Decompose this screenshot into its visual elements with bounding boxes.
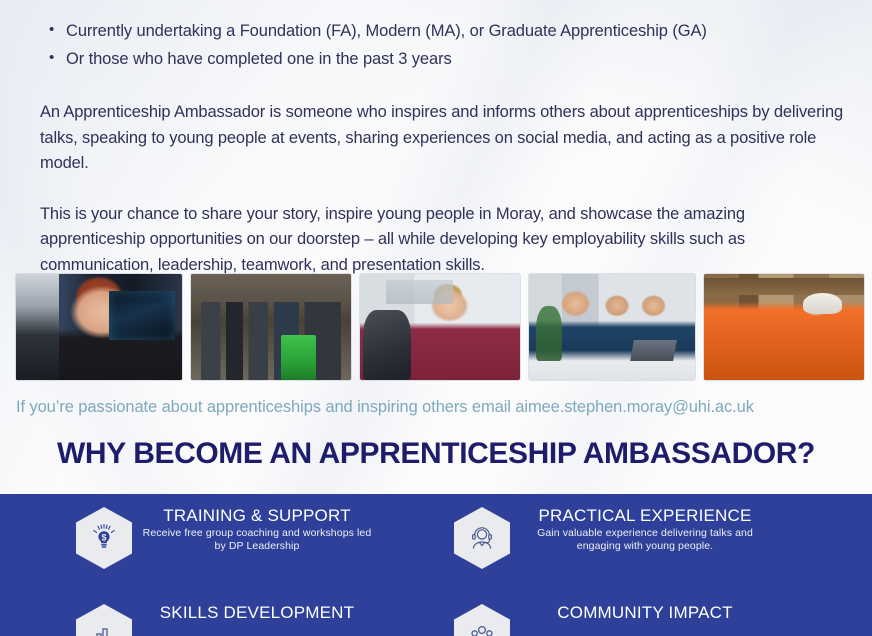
- photo-workshop-group: [191, 274, 351, 380]
- benefit-training-support: $ TRAINING & SUPPORT Receive free group …: [0, 503, 436, 600]
- photo-office-meeting: [529, 274, 695, 380]
- benefits-panel: $ TRAINING & SUPPORT Receive free group …: [0, 494, 872, 636]
- benefit-description: Receive free group coaching and workshop…: [142, 527, 372, 553]
- photo-dental-nurse: [360, 274, 520, 380]
- benefit-description: Gain valuable experience delivering talk…: [520, 527, 770, 553]
- headset-person-icon: [454, 507, 510, 569]
- photo-strip: [16, 274, 856, 380]
- benefit-practical-experience: PRACTICAL EXPERIENCE Gain valuable exper…: [436, 503, 872, 600]
- benefit-title: SKILLS DEVELOPMENT: [142, 602, 372, 623]
- skills-chart-icon: [76, 604, 132, 636]
- benefit-text: TRAINING & SUPPORT Receive free group co…: [132, 503, 372, 553]
- email-cta-text: If you’re passionate about apprenticeshi…: [16, 396, 856, 418]
- benefit-skills-development: SKILLS DEVELOPMENT: [0, 600, 436, 636]
- list-item: Currently undertaking a Foundation (FA),…: [66, 17, 848, 45]
- photo-construction-site: [704, 274, 864, 380]
- svg-text:$: $: [101, 533, 106, 543]
- page-title: WHY BECOME AN APPRENTICESHIP AMBASSADOR?: [0, 437, 872, 471]
- benefit-title: PRACTICAL EXPERIENCE: [520, 505, 770, 526]
- paragraph-opportunity: This is your chance to share your story,…: [40, 202, 848, 279]
- community-icon: [454, 604, 510, 636]
- list-item: Or those who have completed one in the p…: [66, 45, 848, 73]
- benefit-title: COMMUNITY IMPACT: [520, 602, 770, 623]
- benefits-grid: $ TRAINING & SUPPORT Receive free group …: [0, 494, 872, 636]
- benefit-community-impact: COMMUNITY IMPACT: [436, 600, 872, 636]
- paragraph-definition: An Apprenticeship Ambassador is someone …: [40, 100, 848, 177]
- top-content: Currently undertaking a Foundation (FA),…: [0, 0, 872, 278]
- benefit-text: SKILLS DEVELOPMENT: [132, 600, 372, 624]
- photo-engineering-cad: [16, 274, 182, 380]
- benefit-text: COMMUNITY IMPACT: [510, 600, 770, 624]
- benefit-title: TRAINING & SUPPORT: [142, 505, 372, 526]
- lightbulb-currency-icon: $: [76, 507, 132, 569]
- benefit-text: PRACTICAL EXPERIENCE Gain valuable exper…: [510, 503, 770, 553]
- poster-page: Currently undertaking a Foundation (FA),…: [0, 0, 872, 636]
- eligibility-bullet-list: Currently undertaking a Foundation (FA),…: [40, 0, 848, 73]
